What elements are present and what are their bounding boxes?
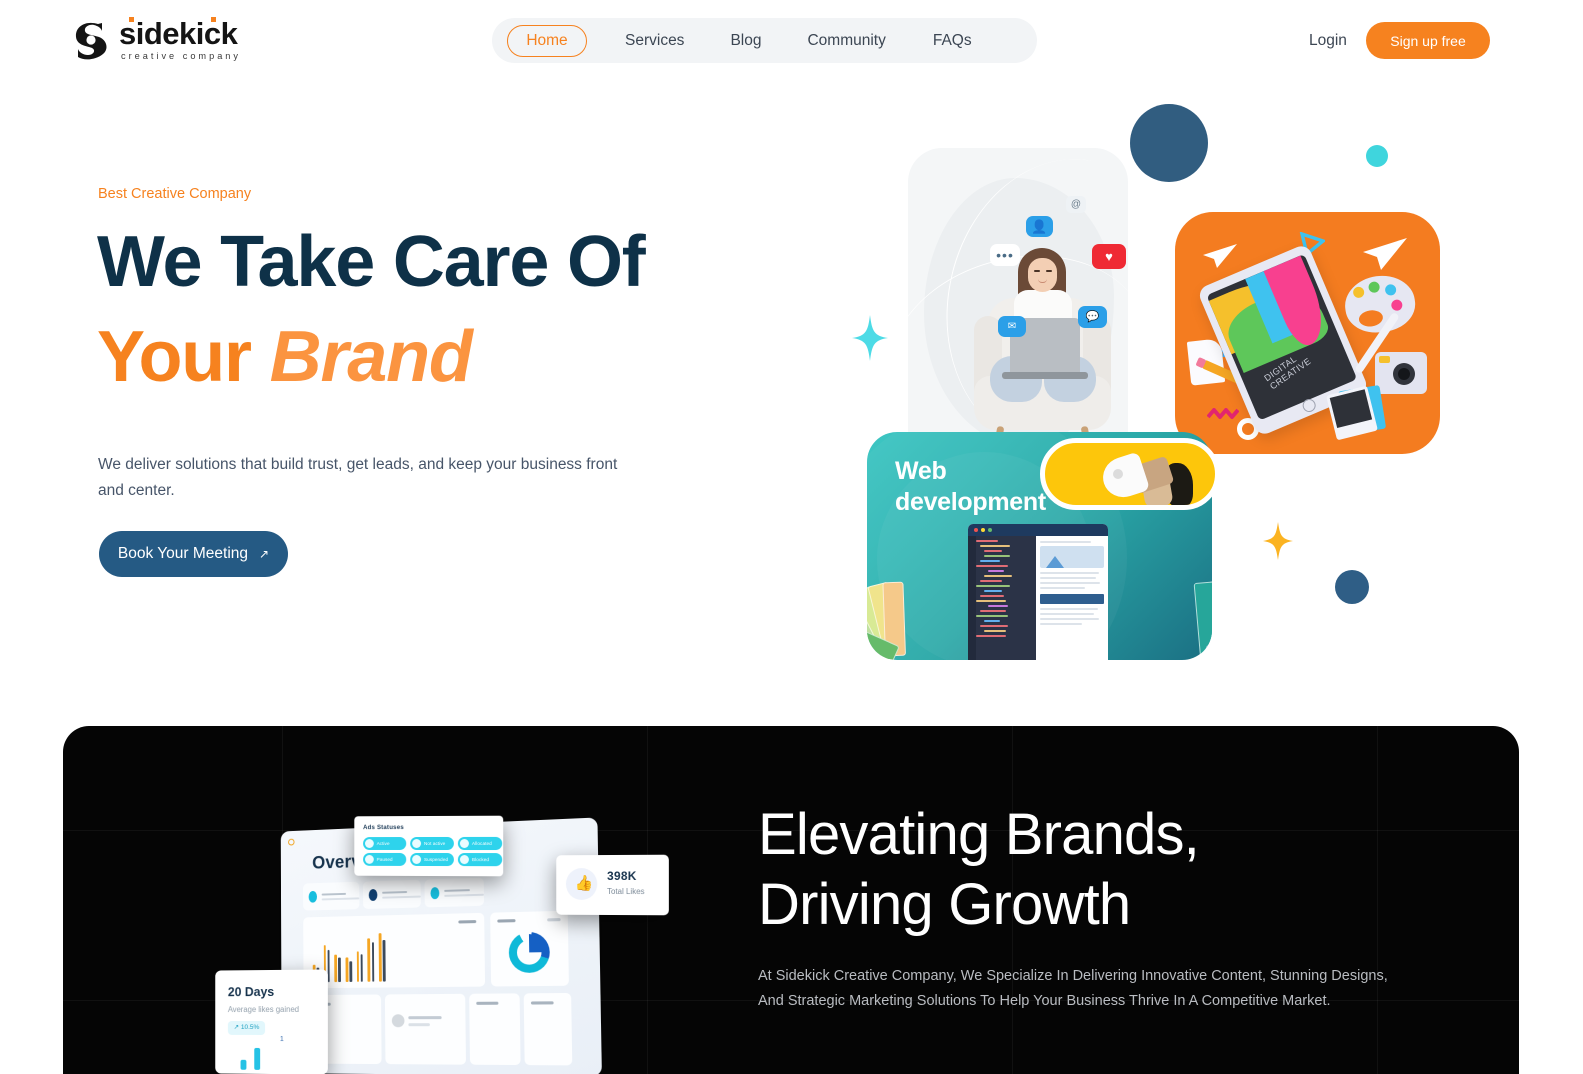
book-meeting-label: Book Your Meeting xyxy=(118,545,248,563)
ads-statuses-title: Ads Statuses xyxy=(363,824,404,831)
logo-dot-accent-2 xyxy=(211,17,216,22)
webdev-line2: development xyxy=(895,488,1046,516)
landing-page: sidekick creative company Home Services … xyxy=(0,0,1583,1074)
person-eye-right xyxy=(1046,270,1052,272)
days-mini-bar-chart xyxy=(241,1048,261,1070)
hero-heading-line1: We Take Care Of xyxy=(97,222,645,302)
dots-glyph: ••• xyxy=(996,251,1014,259)
donut-chart xyxy=(509,932,550,973)
ads-status-pill-group: Active Not active Allocated Paused Suspe… xyxy=(363,837,502,866)
days-badge: ↗ 10.5% xyxy=(228,1021,265,1035)
sidekick-mark-icon xyxy=(72,20,110,60)
image-placeholder-icon xyxy=(1040,546,1104,568)
editor-code-pane xyxy=(968,536,1036,660)
mail-bubble-icon: ✉ xyxy=(998,316,1026,337)
ads-statuses-card: Ads Statuses Active Not active Allocated… xyxy=(354,816,503,877)
brand-tagline: creative company xyxy=(121,52,241,61)
brand-logo[interactable]: sidekick creative company xyxy=(72,18,241,61)
hero-heading-brand: Brand xyxy=(270,317,472,397)
thumbs-up-icon: 👍 xyxy=(575,876,593,891)
mini-panel-4 xyxy=(524,993,573,1065)
pie-chart-panel xyxy=(490,911,569,987)
mini-panel-2 xyxy=(385,994,466,1065)
logo-dot-accent-1 xyxy=(129,17,134,22)
decor-circle-navy-large xyxy=(1130,104,1208,182)
primary-nav: Home Services Blog Community FAQs xyxy=(492,18,1037,63)
nav-item-services[interactable]: Services xyxy=(625,32,684,50)
bar-chart-panel xyxy=(303,913,485,988)
site-header: sidekick creative company Home Services … xyxy=(0,0,1583,82)
card-megaphone xyxy=(1040,438,1220,510)
card-digital-creative: + ✕ DIGITAL CREATIVE xyxy=(1175,212,1440,454)
zigzag-icon xyxy=(1207,408,1239,427)
ads-status-pill[interactable]: Allocated xyxy=(458,837,502,850)
palette-icon xyxy=(1341,271,1418,336)
hero-eyebrow: Best Creative Company xyxy=(98,186,251,202)
hero-illustration: @ 👤 ••• ♥ 💬 ✉ + ✕ xyxy=(830,90,1530,670)
days-value: 20 Days xyxy=(228,985,274,999)
showcase-heading-line1: Elevating Brands, xyxy=(758,802,1199,867)
ads-status-pill[interactable]: Suspended xyxy=(410,853,454,866)
signup-button[interactable]: Sign up free xyxy=(1366,22,1490,59)
thumbs-up-badge: 👍 xyxy=(566,868,597,900)
ads-status-pill[interactable]: Active xyxy=(363,837,406,850)
paper-plane-icon-1 xyxy=(1203,244,1237,273)
ads-status-pill[interactable]: Blocked xyxy=(458,853,502,866)
kpi-card-2 xyxy=(363,880,421,909)
chat-bubble-icon: 💬 xyxy=(1078,306,1107,328)
typing-bubble-icon: ••• xyxy=(990,244,1020,266)
total-likes-label: Total Likes xyxy=(607,887,645,896)
ads-status-pill[interactable]: Not active xyxy=(410,837,454,850)
decor-circle-cyan-small xyxy=(1366,145,1388,167)
editor-preview-pane xyxy=(1036,536,1108,660)
card-social-media-person: @ 👤 ••• ♥ 💬 ✉ xyxy=(908,148,1128,478)
at-sign-icon: @ xyxy=(1066,196,1086,213)
window-control-icon xyxy=(288,839,294,846)
nav-item-community[interactable]: Community xyxy=(807,32,885,50)
days-number: 1 xyxy=(280,1036,284,1043)
hero-heading-your: Your xyxy=(97,317,270,397)
megaphone-icon xyxy=(1098,451,1150,502)
average-likes-card: 20 Days Average likes gained ↗ 10.5% 1 xyxy=(215,969,328,1074)
brand-name: sidekick xyxy=(119,18,241,49)
editor-gutter xyxy=(968,536,976,660)
kpi-card-3 xyxy=(425,878,485,908)
laptop-base xyxy=(1002,372,1088,379)
decor-circle-navy-small xyxy=(1335,570,1369,604)
mini-panel-3 xyxy=(469,993,520,1065)
hero-paragraph: We deliver solutions that build trust, g… xyxy=(98,452,618,504)
nav-item-faqs[interactable]: FAQs xyxy=(933,32,972,50)
mail-glyph: ✉ xyxy=(1008,322,1016,332)
days-label: Average likes gained xyxy=(228,1005,299,1014)
person-eye-left xyxy=(1034,270,1040,272)
hero-heading: We Take Care Of Your Brand xyxy=(97,226,797,395)
book-meeting-button[interactable]: Book Your Meeting @ ↗ xyxy=(99,531,288,577)
total-likes-value: 398K xyxy=(607,869,637,883)
cta-arrow-icon: ↗ xyxy=(259,547,269,561)
dashboard-mockup: Overview xyxy=(205,795,675,1074)
heart-glyph: ♥ xyxy=(1105,250,1113,263)
login-link[interactable]: Login xyxy=(1309,32,1347,50)
total-likes-card: 👍 398K Total Likes xyxy=(556,855,669,916)
showcase-heading: Elevating Brands, Driving Growth xyxy=(758,800,1398,939)
user-bubble-icon: 👤 xyxy=(1026,216,1053,237)
chat-glyph: 💬 xyxy=(1086,312,1100,323)
sparkle-icon-yellow xyxy=(1263,522,1293,560)
camera-icon xyxy=(1375,352,1427,394)
window-titlebar xyxy=(968,524,1108,536)
web-development-label: Web development xyxy=(895,456,1046,517)
person-face xyxy=(1028,258,1057,292)
showcase-heading-line2: Driving Growth xyxy=(758,872,1130,937)
sparkle-icon-cyan xyxy=(852,315,888,361)
kpi-card-1 xyxy=(303,882,359,911)
ads-status-pill[interactable]: Paused xyxy=(363,853,406,866)
megaphone-knob xyxy=(1113,469,1123,479)
code-editor-window xyxy=(968,524,1108,660)
nav-item-blog[interactable]: Blog xyxy=(730,32,761,50)
paper-plane-icon-2 xyxy=(1363,238,1407,275)
heart-bubble-icon: ♥ xyxy=(1092,244,1126,269)
webdev-line1: Web xyxy=(895,457,946,485)
at-glyph: @ xyxy=(1071,200,1081,210)
nav-item-home[interactable]: Home xyxy=(507,25,587,57)
showcase-paragraph: At Sidekick Creative Company, We Special… xyxy=(758,964,1398,1014)
user-glyph: 👤 xyxy=(1031,220,1047,233)
